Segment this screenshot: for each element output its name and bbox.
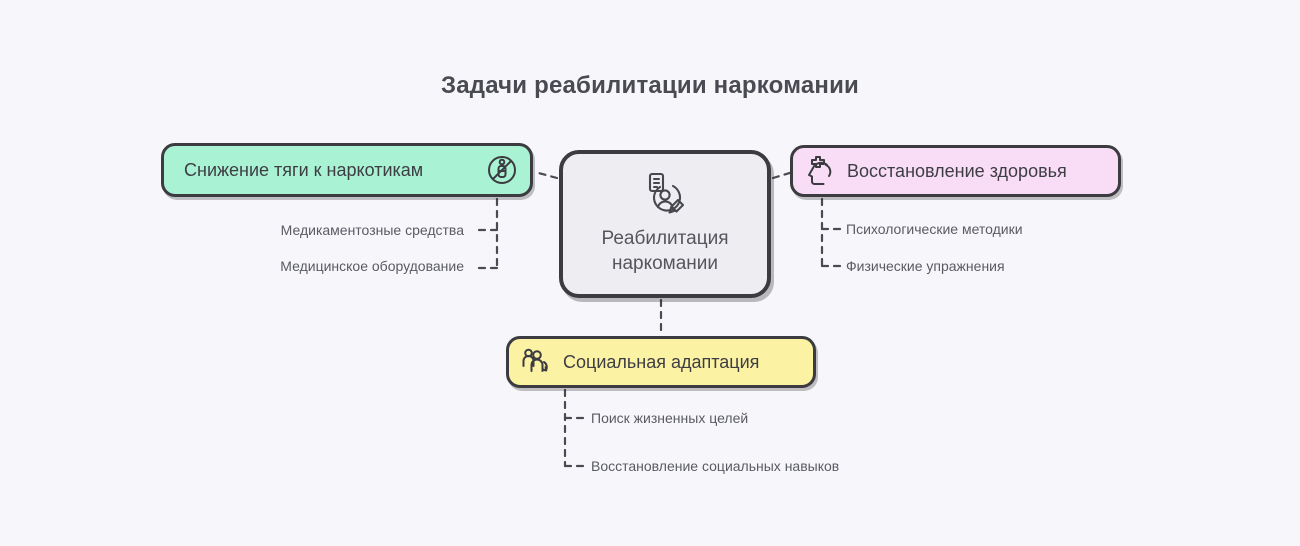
leaf-label-life-goals: Поиск жизненных целей: [591, 410, 891, 426]
page-title: Задачи реабилитации наркомании: [0, 72, 1300, 100]
node-green-label: Снижение тяги к наркотикам: [184, 160, 423, 181]
node-branch-social-adaptation[interactable]: Социальная адаптация: [506, 336, 816, 388]
node-center-label: Реабилитациянаркомании: [601, 226, 728, 276]
head-medical-cross-icon: [805, 155, 837, 187]
node-yellow-label: Социальная адаптация: [563, 352, 759, 373]
node-center-rehabilitation[interactable]: Реабилитациянаркомании: [559, 150, 771, 298]
people-group-arrow-icon: [521, 346, 553, 378]
leaf-label-medication: Медикаментозные средства: [258, 222, 464, 238]
mindmap-diagram: Задачи реабилитации наркомании: [0, 0, 1300, 546]
leaf-label-medical-equipment: Медицинское оборудование: [258, 258, 464, 274]
no-drugs-icon: [486, 154, 518, 186]
edge-center-green: [535, 172, 557, 178]
document-person-pencil-icon: [640, 172, 690, 218]
leaf-label-physical-exercise: Физические упражнения: [846, 258, 1106, 274]
node-pink-label: Восстановление здоровья: [847, 161, 1067, 182]
leaf-label-social-skills: Восстановление социальных навыков: [591, 458, 921, 474]
leaf-label-psych-methods: Психологические методики: [846, 221, 1106, 237]
node-branch-health-recovery[interactable]: Восстановление здоровья: [790, 145, 1121, 197]
node-branch-reduce-craving[interactable]: Снижение тяги к наркотикам: [161, 143, 533, 197]
